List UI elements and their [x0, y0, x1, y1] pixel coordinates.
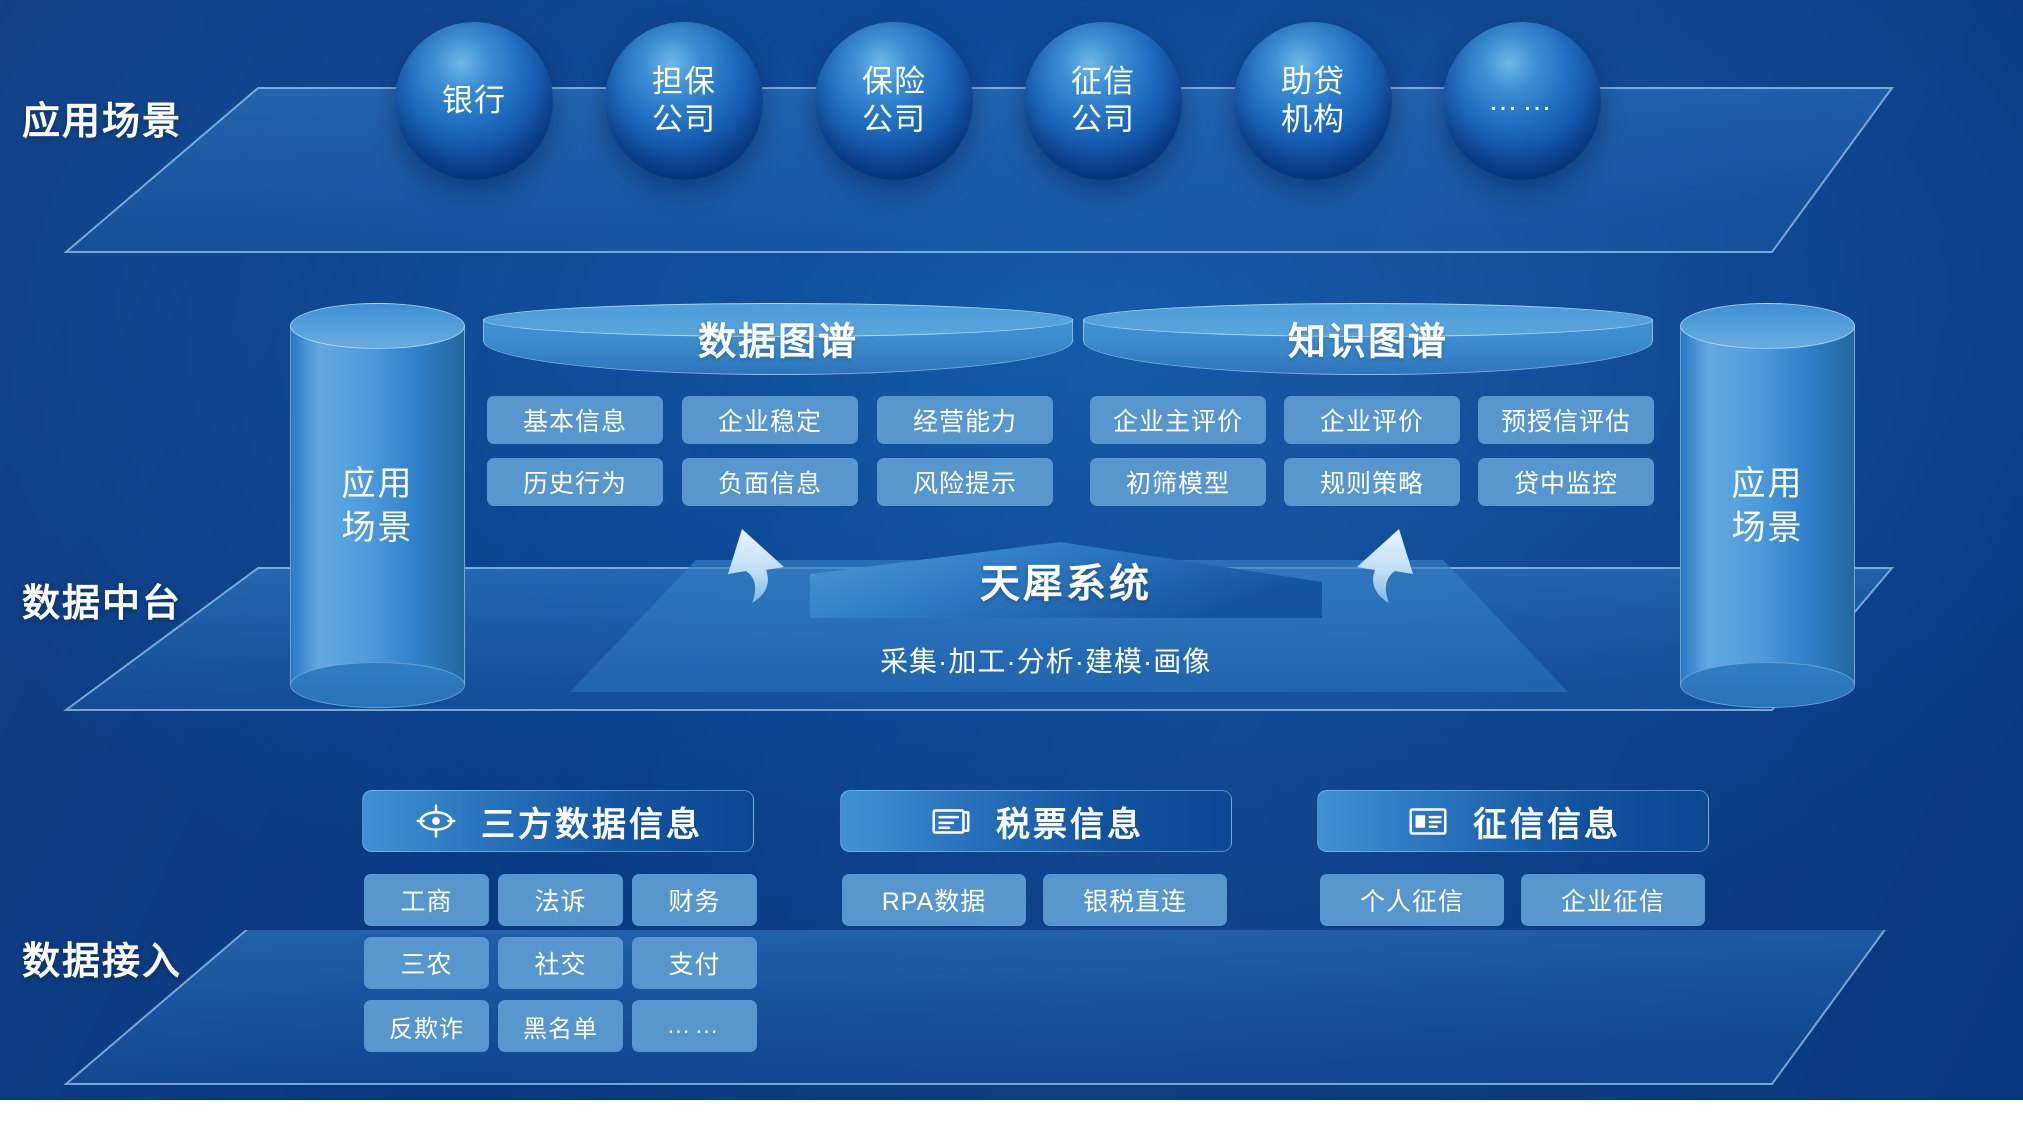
chip-label: 支付 — [668, 945, 720, 981]
chip-label: 反欺诈 — [389, 1009, 464, 1044]
chip-label: 黑名单 — [523, 1009, 598, 1044]
chip-label: 银税直连 — [1083, 882, 1187, 918]
disc-title: 知识图谱 — [1083, 310, 1653, 365]
chip-data-graph[interactable]: 负面信息 — [682, 458, 858, 506]
cylinder-bottom-cap — [1680, 662, 1855, 708]
platform-data-access — [0, 930, 2023, 1110]
chip-label: 贷中监控 — [1514, 464, 1618, 500]
chip-knowledge-graph[interactable]: 企业评价 — [1284, 396, 1460, 444]
chip-third-party-data[interactable]: 支付 — [632, 937, 757, 989]
chip-label: 基本信息 — [523, 402, 627, 438]
app-node-credit-bureau[interactable]: 征信 公司 — [1024, 22, 1182, 180]
source-title: 征信信息 — [1473, 797, 1621, 846]
id-card-icon — [1405, 798, 1451, 844]
chip-label: 风险提示 — [913, 464, 1017, 500]
cylinder-top-cap — [290, 303, 465, 349]
tier-label-application: 应用场景 — [22, 90, 182, 145]
target-icon — [413, 798, 459, 844]
chip-label: 负面信息 — [718, 464, 822, 500]
app-node-label: 征信 公司 — [1071, 63, 1135, 139]
chip-label: 历史行为 — [523, 464, 627, 500]
engine-title: 天犀系统 — [810, 551, 1322, 609]
arrow-up-left-icon — [708, 525, 808, 625]
disc-title: 数据图谱 — [483, 310, 1073, 365]
source-header-third-party-data[interactable]: 三方数据信息 — [362, 790, 754, 852]
chip-third-party-data[interactable]: 黑名单 — [498, 1000, 623, 1052]
chip-third-party-data[interactable]: 工商 — [364, 874, 489, 926]
chip-knowledge-graph[interactable]: 贷中监控 — [1478, 458, 1654, 506]
chip-label: 企业征信 — [1561, 882, 1665, 918]
tier-label-data-access: 数据接入 — [22, 930, 182, 985]
app-node-label: 助贷 机构 — [1281, 63, 1345, 139]
chip-label: …… — [667, 1012, 723, 1040]
cylinder-label: 应用 场景 — [290, 461, 465, 549]
chip-third-party-data[interactable]: 反欺诈 — [364, 1000, 489, 1052]
disc-data-graph[interactable]: 数据图谱 — [483, 303, 1073, 375]
cylinder-top-cap — [1680, 303, 1855, 349]
cylinder-application-scenario-left[interactable]: 应用 场景 — [290, 303, 465, 708]
chip-label: 初筛模型 — [1126, 464, 1230, 500]
source-header-tax-invoice-data[interactable]: 税票信息 — [840, 790, 1232, 852]
arrow-up-right-icon — [1333, 525, 1433, 625]
chip-label: 法诉 — [534, 882, 586, 918]
chip-credit-report-data[interactable]: 企业征信 — [1521, 874, 1705, 926]
chip-third-party-data[interactable]: 三农 — [364, 937, 489, 989]
cylinder-application-scenario-right[interactable]: 应用 场景 — [1680, 303, 1855, 708]
chip-third-party-data[interactable]: 法诉 — [498, 874, 623, 926]
cylinder-label: 应用 场景 — [1680, 461, 1855, 549]
chip-knowledge-graph[interactable]: 初筛模型 — [1090, 458, 1266, 506]
app-node-more[interactable]: …… — [1443, 22, 1601, 180]
app-node-label: 保险 公司 — [862, 63, 926, 139]
app-node-guarantee[interactable]: 担保 公司 — [605, 22, 763, 180]
chip-label: 社交 — [534, 945, 586, 981]
source-title: 税票信息 — [996, 797, 1144, 846]
chip-knowledge-graph[interactable]: 预授信评估 — [1478, 396, 1654, 444]
chip-label: 经营能力 — [913, 402, 1017, 438]
chip-label: 企业评价 — [1320, 402, 1424, 438]
app-node-bank[interactable]: 银行 — [395, 22, 553, 180]
chip-label: RPA数据 — [882, 882, 987, 918]
invoice-icon — [928, 798, 974, 844]
chip-label: 规则策略 — [1320, 464, 1424, 500]
chip-label: 预授信评估 — [1501, 402, 1631, 438]
app-node-loan-agency[interactable]: 助贷 机构 — [1234, 22, 1392, 180]
platform-application — [0, 80, 2023, 260]
engine-subtitle: 采集·加工·分析·建模·画像 — [880, 640, 1211, 680]
cylinder-bottom-cap — [290, 662, 465, 708]
engine-tianxi-system[interactable]: 天犀系统 — [810, 542, 1322, 618]
app-node-label: 担保 公司 — [652, 63, 716, 139]
chip-tax-invoice-data[interactable]: RPA数据 — [842, 874, 1026, 926]
chip-third-party-data[interactable]: 财务 — [632, 874, 757, 926]
app-node-label: 银行 — [442, 82, 506, 120]
chip-data-graph[interactable]: 历史行为 — [487, 458, 663, 506]
tier-label-data-platform: 数据中台 — [22, 572, 182, 627]
source-header-credit-report-data[interactable]: 征信信息 — [1317, 790, 1709, 852]
chip-knowledge-graph[interactable]: 企业主评价 — [1090, 396, 1266, 444]
chip-tax-invoice-data[interactable]: 银税直连 — [1043, 874, 1227, 926]
chip-third-party-data-more[interactable]: …… — [632, 1000, 757, 1052]
source-title: 三方数据信息 — [481, 797, 703, 846]
app-node-insurance[interactable]: 保险 公司 — [815, 22, 973, 180]
chip-label: 个人征信 — [1360, 882, 1464, 918]
chip-label: 企业主评价 — [1113, 402, 1243, 438]
disc-knowledge-graph[interactable]: 知识图谱 — [1083, 303, 1653, 375]
chip-label: 企业稳定 — [718, 402, 822, 438]
app-node-label: …… — [1488, 84, 1556, 118]
chip-label: 财务 — [668, 882, 720, 918]
chip-knowledge-graph[interactable]: 规则策略 — [1284, 458, 1460, 506]
chip-data-graph[interactable]: 经营能力 — [877, 396, 1053, 444]
chip-label: 工商 — [400, 882, 452, 918]
chip-credit-report-data[interactable]: 个人征信 — [1320, 874, 1504, 926]
chip-data-graph[interactable]: 基本信息 — [487, 396, 663, 444]
chip-data-graph[interactable]: 风险提示 — [877, 458, 1053, 506]
architecture-diagram: 应用场景 数据中台 数据接入 银行 担保 公司 保险 公司 征信 公司 助贷 机… — [0, 0, 2023, 1130]
chip-third-party-data[interactable]: 社交 — [498, 937, 623, 989]
chip-data-graph[interactable]: 企业稳定 — [682, 396, 858, 444]
chip-label: 三农 — [400, 945, 452, 981]
